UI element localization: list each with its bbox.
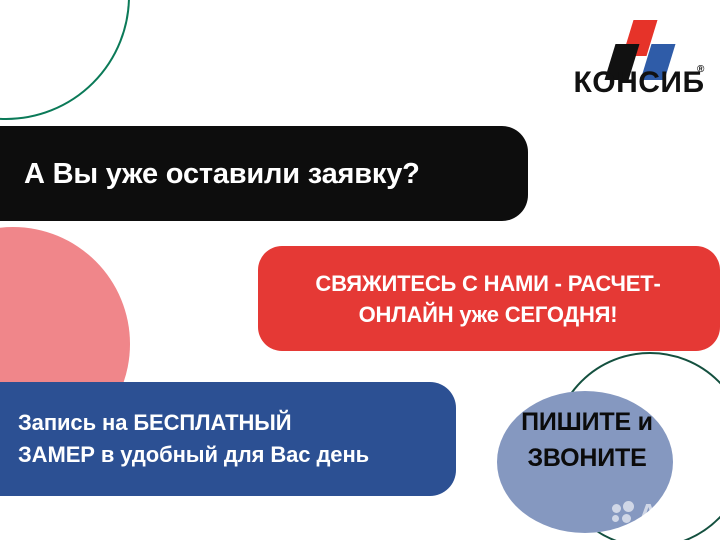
brand-logo: КОНСИБ ® [566,18,712,106]
decor-circle-outline-top-left [0,0,130,120]
headline-text: А Вы уже оставили заявку? [24,157,420,191]
offer-text: СВЯЖИТЕСЬ С НАМИ - РАСЧЕТ- ОНЛАЙН уже СЕ… [315,268,660,330]
headline-banner: А Вы уже оставили заявку? [0,126,528,221]
contact-line-1: ПИШИТЕ и [521,408,653,436]
logo-mark-icon [566,18,712,68]
booking-text: Запись на БЕСПЛАТНЫЙ ЗАМЕР в удобный для… [18,407,369,471]
offer-line-1: СВЯЖИТЕСЬ С НАМИ - РАСЧЕТ- [315,271,660,296]
booking-line-2: ЗАМЕР в удобный для Вас день [18,442,369,467]
booking-line-1: Запись на БЕСПЛАТНЫЙ [18,410,291,435]
contact-line-2: ЗВОНИТЕ [527,444,646,472]
promo-poster: КОНСИБ ® А Вы уже оставили заявку? СВЯЖИ… [0,0,720,540]
contact-cta: ПИШИТЕ и ЗВОНИТЕ [497,404,677,476]
registered-trademark-icon: ® [697,64,704,75]
offer-banner: СВЯЖИТЕСЬ С НАМИ - РАСЧЕТ- ОНЛАЙН уже СЕ… [258,246,720,351]
brand-name: КОНСИБ [566,66,712,100]
offer-line-2: ОНЛАЙН уже СЕГОДНЯ! [359,302,618,327]
booking-banner: Запись на БЕСПЛАТНЫЙ ЗАМЕР в удобный для… [0,382,456,496]
